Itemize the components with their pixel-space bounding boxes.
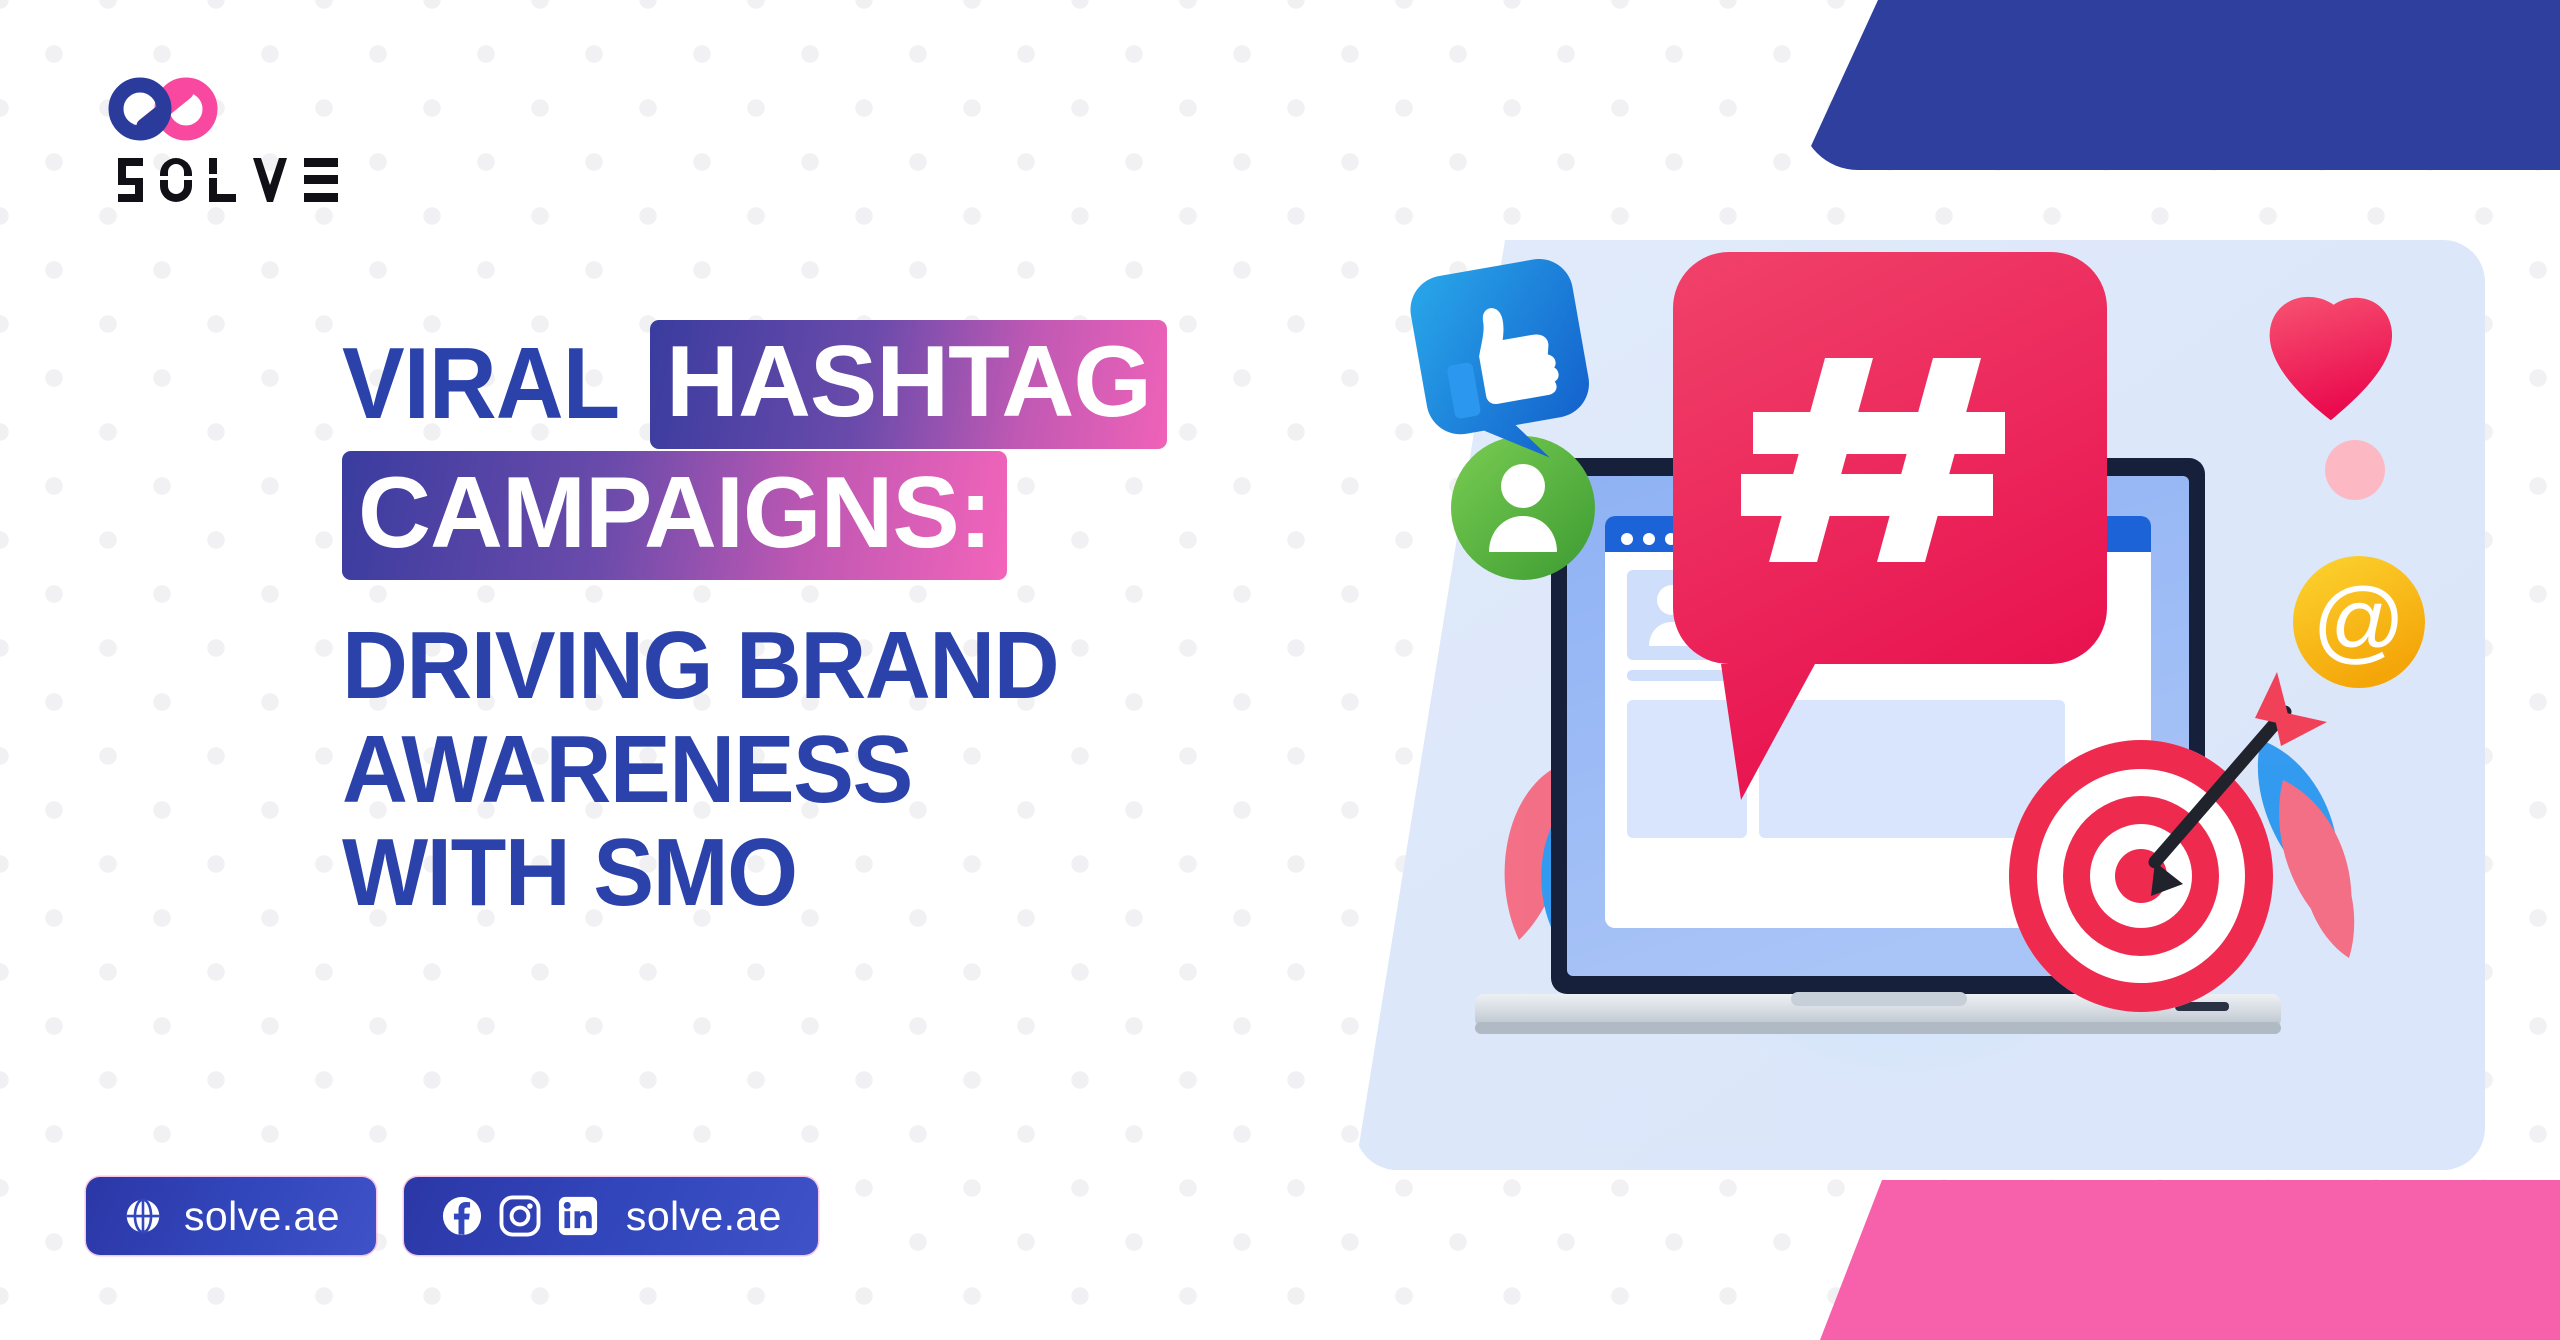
navy-corner-shape bbox=[1800, 0, 2560, 170]
subheadline-line-1: DRIVING BRAND bbox=[342, 614, 1435, 718]
subheadline-line-3: WITH SMO bbox=[342, 821, 1435, 925]
svg-text:@: @ bbox=[2312, 570, 2405, 672]
brand-wordmark bbox=[118, 158, 338, 202]
illustration-artwork: @ bbox=[1355, 240, 2485, 1170]
headline-viral: VIRAL bbox=[342, 334, 632, 435]
website-pill-label: solve.ae bbox=[184, 1193, 340, 1240]
wordmark-letter-s bbox=[118, 158, 143, 202]
pink-dot bbox=[2325, 440, 2385, 500]
wordmark-letter-l bbox=[209, 158, 236, 202]
subheadline-block: DRIVING BRAND AWARENESS WITH SMO bbox=[342, 614, 1435, 925]
wordmark-letter-v bbox=[253, 158, 287, 202]
facebook-icon[interactable] bbox=[440, 1194, 484, 1238]
pink-corner-shape bbox=[1820, 1180, 2560, 1340]
wordmark-letter-e bbox=[304, 158, 338, 202]
brand-logo[interactable] bbox=[100, 74, 338, 202]
headline-block: VIRAL HASHTAG CAMPAIGNS: DRIVING BRAND A… bbox=[342, 320, 1492, 925]
globe-icon bbox=[122, 1195, 164, 1237]
instagram-icon[interactable] bbox=[498, 1194, 542, 1238]
subheadline-line-2: AWARENESS bbox=[342, 718, 1435, 822]
headline-row-2: CAMPAIGNS: bbox=[342, 451, 1492, 580]
footer-contact-bar: solve.ae solve.ae bbox=[86, 1177, 818, 1255]
headline-hashtag-highlight: HASHTAG bbox=[650, 320, 1167, 449]
heart-icon bbox=[2270, 297, 2392, 420]
social-pill[interactable]: solve.ae bbox=[404, 1177, 818, 1255]
linkedin-icon[interactable] bbox=[556, 1194, 600, 1238]
social-pill-label: solve.ae bbox=[626, 1193, 782, 1240]
headline-campaigns-highlight: CAMPAIGNS: bbox=[342, 451, 1007, 580]
headline-row-1: VIRAL HASHTAG bbox=[342, 320, 1492, 449]
infinity-link-icon bbox=[100, 74, 226, 144]
wordmark-letter-o bbox=[160, 158, 192, 202]
website-pill[interactable]: solve.ae bbox=[86, 1177, 376, 1255]
at-sign-circle: @ bbox=[2293, 556, 2425, 688]
